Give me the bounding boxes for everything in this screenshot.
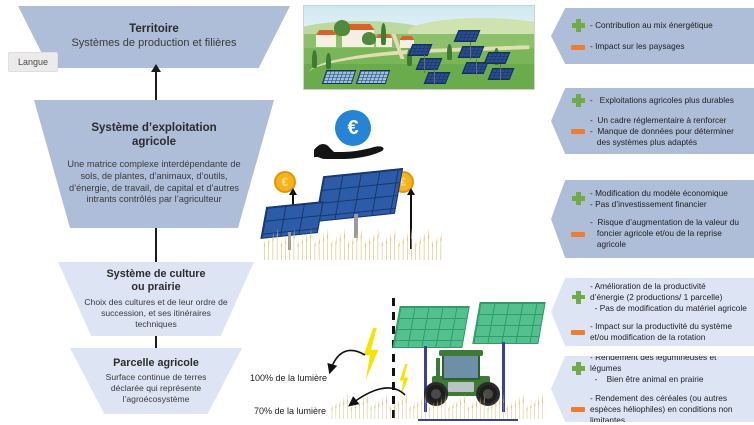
- photo-tree-1: [334, 20, 350, 36]
- wheat-plant: [346, 240, 351, 260]
- exploitation-title: Système d’exploitationagricole: [91, 122, 216, 149]
- wheat-plant: [308, 228, 313, 260]
- wheat-plant: [430, 240, 435, 260]
- stubble-plant: [338, 399, 342, 419]
- green-solar-panel-right: [472, 302, 545, 344]
- wheat-plant: [329, 240, 334, 260]
- plus-icon: [571, 19, 585, 33]
- stubble-plant: [416, 399, 420, 419]
- revenue-solar-crop-illustration: € € €: [262, 108, 442, 260]
- callout-row: - Un cadre réglementaire à renforcer- Ma…: [571, 115, 747, 148]
- wheat-plant: [371, 232, 376, 260]
- stubble-plant: [408, 405, 412, 419]
- callout-row: - Risque d’augmentation de la valeur du …: [571, 217, 747, 250]
- hierarchy-level-systeme-culture: Système de cultureou prairie Choix des c…: [58, 262, 254, 336]
- stubble-plant: [506, 405, 510, 419]
- wheat-plant: [275, 228, 280, 260]
- photo-array-post-4: [476, 59, 477, 75]
- connector-parcelle-to-culture: [155, 336, 157, 348]
- wheat-plant: [396, 240, 401, 260]
- photo-array-post-5: [500, 64, 501, 80]
- minus-icon: [571, 402, 585, 416]
- callout-text: - Impact sur les paysages: [590, 41, 685, 52]
- wheat-plant: [409, 228, 414, 260]
- hand-icon: [312, 138, 388, 160]
- wheat-plant: [304, 232, 309, 260]
- photo-cypress-5: [447, 44, 452, 60]
- connector-exploitation-to-territoire: [155, 68, 157, 100]
- stubble-plant: [353, 402, 357, 419]
- stubble-plant: [509, 402, 513, 419]
- callout-row: - Contribution au mix énergétique: [571, 19, 747, 33]
- stubble-plant: [431, 402, 435, 419]
- wheat-plant: [426, 228, 431, 260]
- callout-text: - Impact sur la productivité du systèmee…: [590, 321, 732, 343]
- callout-row: - Impact sur les paysages: [571, 40, 747, 54]
- stubble-plant: [377, 399, 381, 419]
- plus-icon: [571, 192, 585, 206]
- stubble-plant: [369, 405, 373, 419]
- stubble-plant: [455, 399, 459, 419]
- infographic-canvas: Territoire Systèmes de production et fil…: [0, 0, 754, 425]
- lightning-bolt-large-icon: [358, 328, 384, 380]
- wheat-plant: [266, 236, 271, 260]
- hierarchy-level-territoire: Territoire Systèmes de production et fil…: [18, 6, 290, 68]
- wheat-plant: [291, 228, 296, 260]
- stubble-plant: [412, 402, 416, 419]
- wheat-plant: [312, 240, 317, 260]
- wheat-plant: [413, 240, 418, 260]
- wheat-plant: [438, 232, 442, 260]
- photo-ground-panel-1: [322, 70, 357, 84]
- stubble-plant: [350, 405, 354, 419]
- wheat-plant: [317, 236, 322, 260]
- crop-row: [262, 224, 442, 260]
- stubble-plant: [400, 396, 404, 419]
- callout-culture: - Amélioration de la productivitéd’énerg…: [551, 278, 754, 346]
- photo-house-1: [316, 34, 336, 47]
- stubble-plant: [396, 399, 400, 419]
- stubble-plant: [435, 399, 439, 419]
- callout-row: - Rendement des céréales (ou autresespèc…: [571, 393, 747, 425]
- photo-cypress-2: [312, 50, 317, 68]
- exploitation-description: Une matrice complexe interdépendante de …: [60, 159, 248, 206]
- stubble-plant: [447, 405, 451, 419]
- stubble-plant: [467, 405, 471, 419]
- wheat-plant: [417, 236, 422, 260]
- callout-text: - Risque d’augmentation de la valeur du …: [590, 217, 739, 250]
- stubble-plant: [381, 396, 385, 419]
- stubble-plant: [451, 402, 455, 419]
- stubble-plant: [474, 399, 478, 419]
- wheat-plant: [300, 236, 305, 260]
- wheat-plant: [434, 236, 439, 260]
- callout-text: - Rendement des légumineuses etlégumes -…: [590, 352, 716, 385]
- culture-description: Choix des cultures et de leur ordre de s…: [80, 297, 232, 330]
- stubble-plant: [330, 405, 334, 419]
- stubble-plant: [533, 399, 537, 419]
- connector-culture-to-exploitation: [155, 228, 157, 262]
- wheat-plant: [287, 232, 292, 260]
- light-label-reduced: 70% de la lumière: [254, 406, 326, 416]
- callout-row: - Exploitations agricoles plus durables: [571, 94, 747, 108]
- hierarchy-level-parcelle: Parcelle agricole Surface continue de te…: [70, 348, 242, 414]
- wheat-plant: [363, 240, 368, 260]
- photo-array-post-2: [434, 69, 435, 85]
- callout-row: - Modification du modèle économique- Pas…: [571, 188, 747, 210]
- wheat-plant: [321, 232, 326, 260]
- callout-text: - Modification du modèle économique- Pas…: [590, 188, 728, 210]
- stubble-plant: [392, 402, 396, 419]
- photo-cypress-3: [326, 53, 331, 69]
- stubble-plant: [420, 396, 424, 419]
- stubble-plant: [498, 396, 502, 419]
- callout-text: - Amélioration de la productivitéd’énerg…: [590, 281, 747, 314]
- wheat-plant: [350, 236, 355, 260]
- stubble-plant: [517, 396, 521, 419]
- stubble-plant: [385, 393, 389, 419]
- stubble-plant: [342, 396, 346, 419]
- wheat-plant: [325, 228, 330, 260]
- wheat-plant: [354, 232, 359, 260]
- stubble-plant: [513, 399, 517, 419]
- stubble-plant: [482, 393, 486, 419]
- wheat-plant: [405, 232, 410, 260]
- wheat-plant: [388, 232, 393, 260]
- wheat-plant: [296, 240, 301, 260]
- stubble-plant: [373, 402, 377, 419]
- stubble-plant: [334, 402, 338, 419]
- callout-exploitation: - Exploitations agricoles plus durables-…: [551, 88, 754, 154]
- wheat-plant: [359, 228, 364, 260]
- photo-ground-panel-2: [356, 70, 391, 84]
- stubble-plant: [346, 393, 350, 419]
- stubble-plant: [389, 405, 393, 419]
- language-button[interactable]: Langue: [8, 52, 58, 72]
- stubble-plant: [424, 393, 428, 419]
- tractor-cabin: [442, 354, 480, 380]
- wheat-plant: [262, 240, 267, 260]
- agrivoltaic-tractor-illustration: [330, 280, 545, 425]
- stubble-plant: [486, 405, 490, 419]
- parcelle-description: Surface continue de terres déclarée qui …: [90, 372, 222, 405]
- solar-panel-large: [315, 168, 403, 222]
- stubble-plant: [470, 402, 474, 419]
- stubble-plant: [490, 402, 494, 419]
- wheat-plant: [392, 228, 397, 260]
- stubble-plant: [428, 405, 432, 419]
- photo-array-post-1: [424, 55, 425, 73]
- callout-text: - Contribution au mix énergétique: [590, 20, 713, 31]
- stubble-plant: [443, 393, 447, 419]
- wheat-plant: [279, 240, 284, 260]
- arrow-up-icon: [151, 64, 161, 72]
- wheat-plant: [283, 236, 288, 260]
- wheat-plant: [422, 232, 427, 260]
- wheat-stubble-row: [330, 389, 545, 419]
- callout-text: - Exploitations agricoles plus durables: [590, 95, 734, 106]
- stubble-plant: [361, 396, 365, 419]
- hierarchy-level-systeme-exploitation: Système d’exploitationagricole Une matri…: [34, 100, 274, 228]
- wheat-plant: [342, 228, 347, 260]
- callout-text: - Rendement des céréales (ou autresespèc…: [590, 393, 733, 425]
- photo-tree-2: [362, 32, 376, 45]
- stubble-plant: [439, 396, 443, 419]
- callout-row: - Rendement des légumineuses etlégumes -…: [571, 352, 747, 385]
- wheat-plant: [384, 236, 389, 260]
- stubble-plant: [478, 396, 482, 419]
- photo-array-post-3: [470, 42, 471, 60]
- callout-parcelle: - Rendement des légumineuses etlégumes -…: [551, 356, 754, 422]
- stubble-plant: [525, 405, 529, 419]
- wheat-plant: [270, 232, 275, 260]
- tractor-roof: [439, 350, 483, 356]
- tractor-exhaust: [436, 358, 440, 380]
- ground-rail: [418, 419, 518, 421]
- stubble-plant: [404, 393, 408, 419]
- stubble-plant: [365, 393, 369, 419]
- stubble-plant: [502, 393, 506, 419]
- plus-icon: [571, 290, 585, 304]
- minus-icon: [571, 227, 585, 241]
- parcelle-title: Parcelle agricole: [113, 357, 199, 370]
- callout-row: - Impact sur la productivité du systèmee…: [571, 321, 747, 343]
- callout-territoire: - Contribution au mix énergétique- Impac…: [551, 8, 754, 64]
- wheat-plant: [338, 232, 343, 260]
- green-solar-panel-left: [392, 306, 469, 348]
- stubble-plant: [463, 393, 467, 419]
- territoire-title: Territoire: [129, 23, 179, 37]
- wheat-plant: [367, 236, 372, 260]
- landscape-solar-farm-illustration: [303, 5, 535, 90]
- wheat-plant: [333, 236, 338, 260]
- stubble-plant: [537, 396, 541, 419]
- plus-icon: [571, 362, 585, 376]
- stubble-plant: [541, 393, 545, 419]
- stubble-plant: [459, 396, 463, 419]
- stubble-plant: [521, 393, 525, 419]
- minus-icon: [571, 124, 585, 138]
- callout-text: - Un cadre réglementaire à renforcer- Ma…: [590, 115, 734, 148]
- minus-icon: [571, 40, 585, 54]
- stubble-plant: [357, 399, 361, 419]
- stubble-plant: [529, 402, 533, 419]
- minus-icon: [571, 325, 585, 339]
- wheat-plant: [401, 236, 406, 260]
- territoire-description: Systèmes de production et filières: [71, 37, 236, 51]
- callout-row: - Amélioration de la productivitéd’énerg…: [571, 281, 747, 314]
- callout-economique: - Modification du modèle économique- Pas…: [551, 180, 754, 258]
- culture-title: Système de cultureou prairie: [106, 268, 205, 293]
- light-label-full: 100% de la lumière: [250, 373, 327, 383]
- wheat-plant: [380, 240, 385, 260]
- wheat-plant: [375, 228, 380, 260]
- photo-cypress-1: [381, 23, 386, 45]
- stubble-plant: [494, 399, 498, 419]
- plus-icon: [571, 94, 585, 108]
